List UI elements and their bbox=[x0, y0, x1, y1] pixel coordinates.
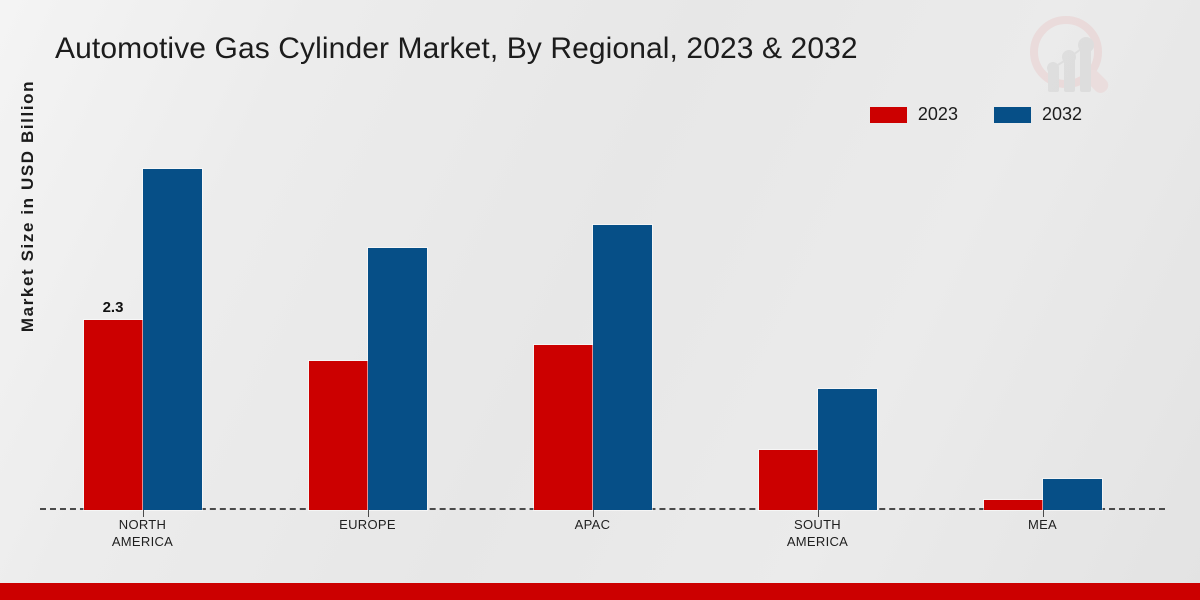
bar-group bbox=[758, 130, 878, 510]
y-axis-title: Market Size in USD Billion bbox=[18, 6, 38, 406]
chart-legend: 2023 2032 bbox=[870, 104, 1082, 125]
legend-item-2032[interactable]: 2032 bbox=[994, 104, 1082, 125]
x-axis-label-apac: APAC bbox=[513, 516, 673, 533]
bar-2032[interactable] bbox=[593, 225, 652, 510]
x-axis-label-north-america: NORTH AMERICA bbox=[63, 516, 223, 550]
bar-rect bbox=[593, 225, 652, 510]
bar-rect bbox=[534, 345, 593, 510]
bar-group bbox=[983, 130, 1103, 510]
watermark-logo bbox=[1018, 8, 1122, 112]
bar-group bbox=[533, 130, 653, 510]
plot-area: 2.3NORTH AMERICAEUROPEAPACSOUTH AMERICAM… bbox=[40, 130, 1165, 510]
x-axis-label-south-america: SOUTH AMERICA bbox=[738, 516, 898, 550]
x-axis-label-mea: MEA bbox=[963, 516, 1123, 533]
bar-2023[interactable] bbox=[534, 345, 593, 510]
bar-group bbox=[308, 130, 428, 510]
bar-2023[interactable] bbox=[309, 361, 368, 510]
bar-rect bbox=[1043, 479, 1102, 510]
bar-2032[interactable] bbox=[368, 248, 427, 510]
legend-swatch-2023 bbox=[870, 107, 907, 123]
bar-2023[interactable] bbox=[759, 450, 818, 510]
legend-label-2023: 2023 bbox=[918, 104, 958, 125]
footer-accent-bar bbox=[0, 583, 1200, 600]
bar-rect bbox=[309, 361, 368, 510]
bar-rect bbox=[368, 248, 427, 510]
x-axis-label-europe: EUROPE bbox=[288, 516, 448, 533]
legend-label-2032: 2032 bbox=[1042, 104, 1082, 125]
bar-2032[interactable] bbox=[1043, 479, 1102, 510]
chart-container: Automotive Gas Cylinder Market, By Regio… bbox=[0, 0, 1200, 600]
page-title: Automotive Gas Cylinder Market, By Regio… bbox=[55, 32, 858, 66]
bar-rect bbox=[984, 500, 1043, 510]
bar-rect bbox=[759, 450, 818, 510]
bar-2023[interactable]: 2.3 bbox=[84, 320, 143, 510]
legend-item-2023[interactable]: 2023 bbox=[870, 104, 958, 125]
legend-swatch-2032 bbox=[994, 107, 1031, 123]
bar-rect bbox=[143, 169, 202, 510]
bar-2023[interactable] bbox=[984, 500, 1043, 510]
bar-2032[interactable] bbox=[818, 389, 877, 510]
bar-value-label: 2.3 bbox=[103, 299, 124, 316]
bar-rect bbox=[818, 389, 877, 510]
bar-group: 2.3 bbox=[83, 130, 203, 510]
bar-rect bbox=[84, 320, 143, 510]
bar-2032[interactable] bbox=[143, 169, 202, 510]
